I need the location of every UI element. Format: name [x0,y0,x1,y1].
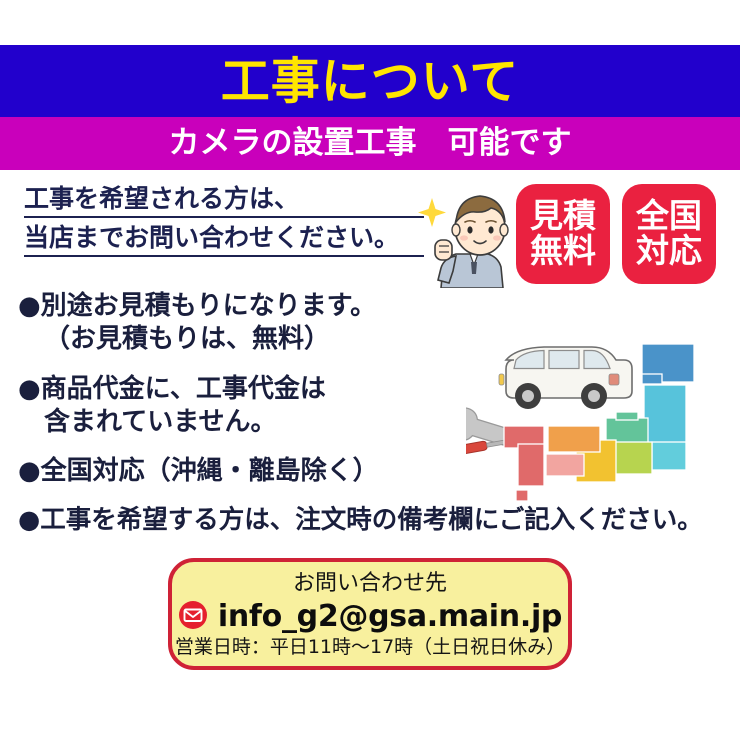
headline-line-1: 工事を希望される方は、 [24,186,424,218]
badge-nationwide: 全国 対応 [622,184,716,284]
header-subtitle-band: カメラの設置工事 可能です [0,117,740,170]
service-illustration [466,330,696,502]
mail-icon [178,600,208,634]
bullet-main-3: ●工事を希望する方は、注文時の備考欄にご記入ください。 [18,505,703,535]
list-item: ●工事を希望する方は、注文時の備考欄にご記入ください。 [18,504,732,537]
page-subtitle: カメラの設置工事 可能です [169,128,572,159]
badge-group: 見積 無料 全国 対応 [516,184,716,284]
bullet-main-0: ●別途お見積もりになります。 [18,291,376,321]
delivery-van-icon [499,347,632,409]
worker-thumbs-up-icon [418,176,528,288]
badge-nationwide-line1: 全国 [636,199,702,234]
badge-free-estimate-line2: 無料 [530,234,596,269]
sparkle-icon [418,198,446,227]
bullet-main-2: ●全国対応（沖縄・離島除く） [18,456,379,486]
badge-free-estimate-line1: 見積 [530,199,596,234]
contact-email-row: info_g2@gsa.main.jp [178,600,562,634]
contact-box: お問い合わせ先 info_g2@gsa.main.jp 営業日時：平日11時～1… [168,558,572,670]
headline-block: 工事を希望される方は、 当店までお問い合わせください。 [24,186,424,264]
contact-email[interactable]: info_g2@gsa.main.jp [218,602,562,632]
badge-nationwide-line2: 対応 [636,234,702,269]
header-title-band: 工事について [0,45,740,117]
badge-free-estimate: 見積 無料 [516,184,610,284]
page-title: 工事について [221,57,520,106]
bullet-main-1: ●商品代金に、工事代金は [18,374,326,404]
contact-title: お問い合わせ先 [293,573,447,595]
headline-line-2: 当店までお問い合わせください。 [24,225,424,257]
contact-business-hours: 営業日時：平日11時～17時（土日祝日休み） [175,638,565,657]
